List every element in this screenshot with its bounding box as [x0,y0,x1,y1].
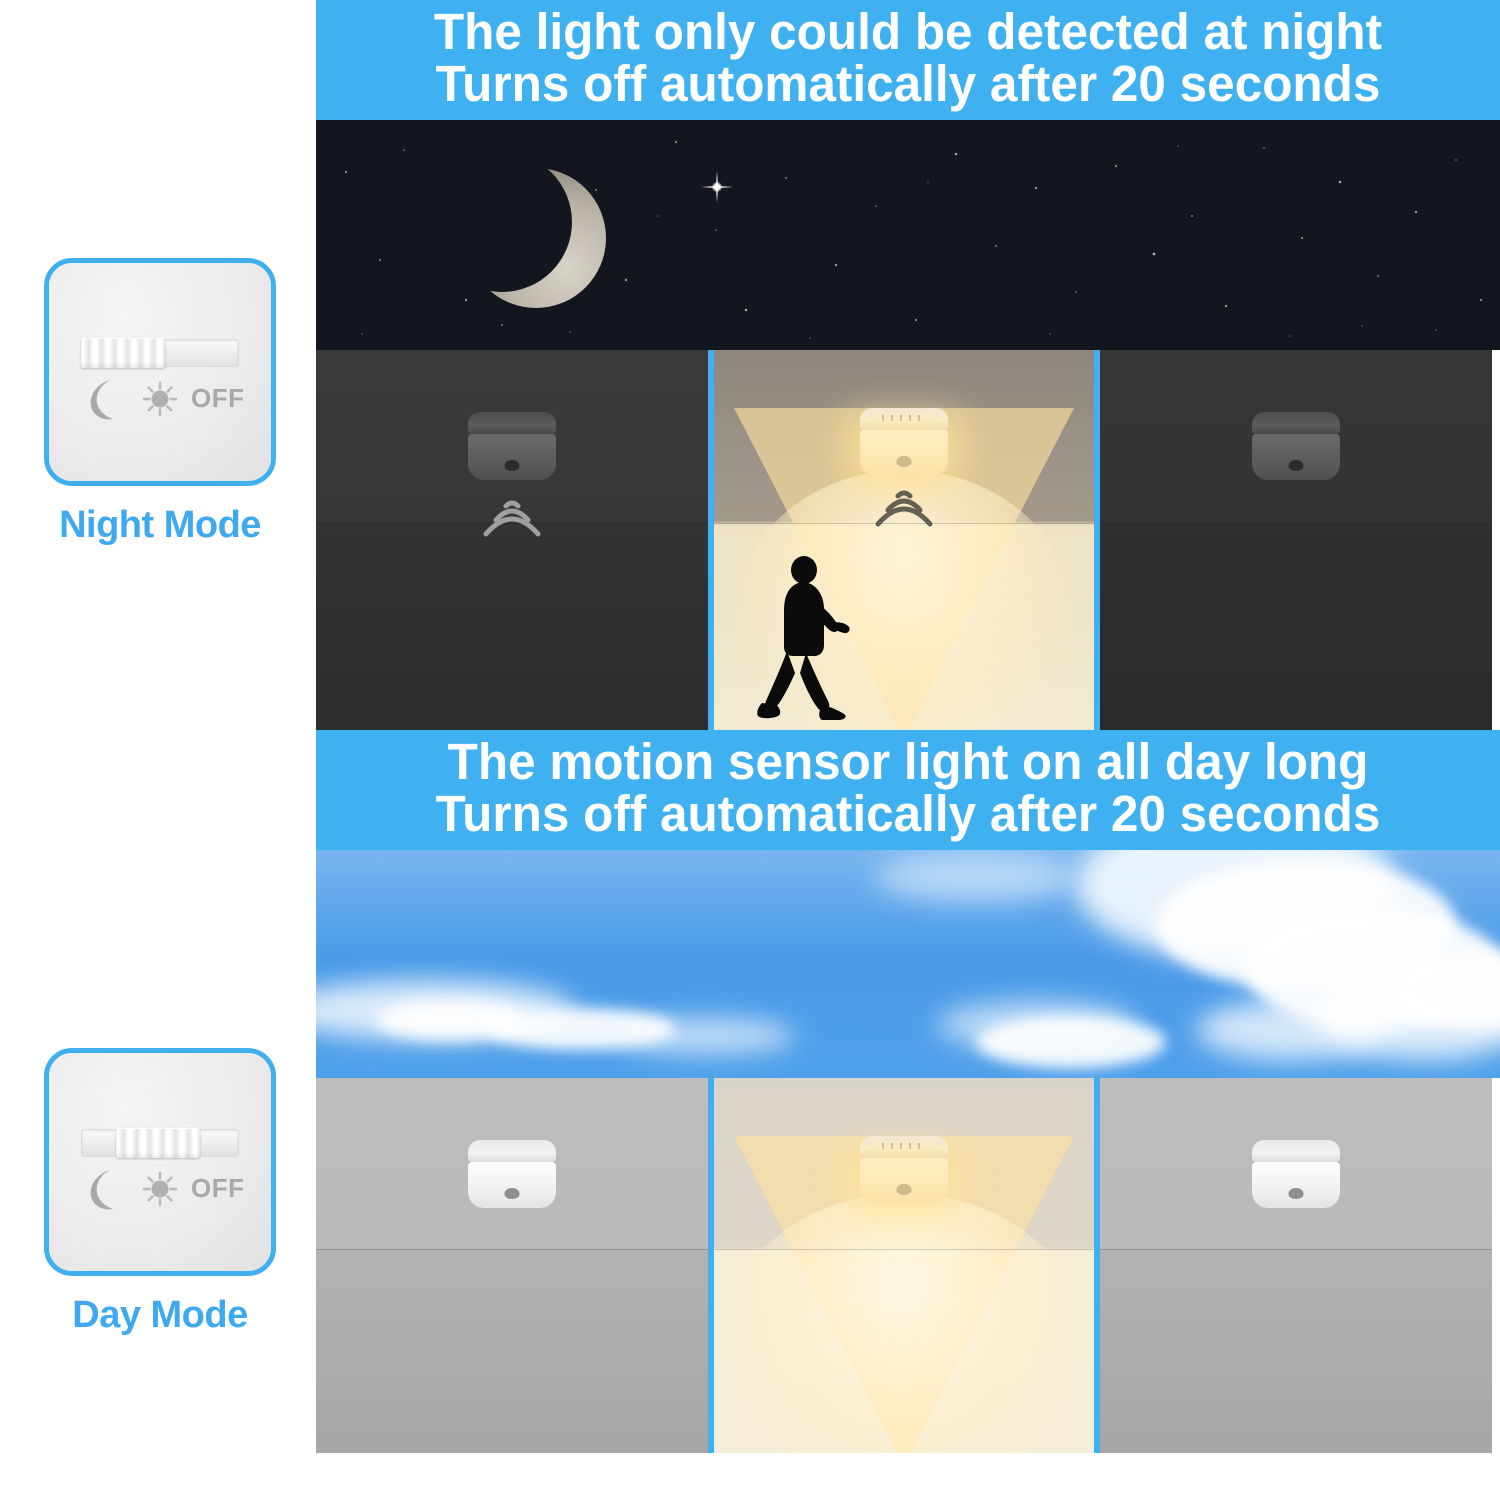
sensor-light-fixture [468,412,556,480]
day-banner-line2: Turns off automatically after 20 seconds [334,788,1482,840]
pir-sensor-icon [1289,1188,1304,1199]
day-switch-icon-row: OFF [75,1165,251,1217]
sensor-light-fixture [860,1136,948,1204]
off-label: OFF [191,1165,245,1211]
vent-slots-icon [882,415,926,421]
day-mode-switch[interactable]: OFF [44,1048,276,1276]
night-panel-left [316,350,708,730]
night-mode-label: Night Mode [44,504,276,547]
mode-cards-column: OFF Night Mode [0,0,316,1500]
pir-sensor-icon [505,460,520,471]
night-switch-icon-row: OFF [75,375,251,427]
crescent-moon-icon [466,168,606,308]
sun-icon [137,1165,183,1218]
day-banner: The motion sensor light on all day long … [316,730,1500,850]
day-banner-line1: The motion sensor light on all day long [334,736,1482,788]
night-mode-card: OFF Night Mode [44,258,276,547]
night-slider-track[interactable] [81,339,239,367]
night-sky-image [316,120,1500,350]
day-slider-knob[interactable] [116,1128,200,1158]
day-scene-row [316,1078,1500,1453]
sensor-light-fixture [468,1140,556,1208]
wall-floor-line [714,1249,1094,1250]
sensor-light-fixture [1252,1140,1340,1208]
moon-icon [79,375,125,428]
motion-wave-icon [854,480,954,538]
night-banner-line2: Turns off automatically after 20 seconds [334,58,1482,110]
scenes-column: The light only could be detected at nigh… [316,0,1500,1500]
switch-face [49,1053,271,1271]
day-panel-left [316,1078,708,1453]
night-slider-knob[interactable] [81,338,165,368]
night-scene-row [316,350,1500,730]
wall-floor-line [1100,1249,1492,1250]
sensor-light-fixture [1252,412,1340,480]
wall-floor-line [1100,523,1492,524]
day-slider-track[interactable] [81,1129,239,1157]
day-mode-label: Day Mode [44,1294,276,1337]
night-panel-right [1100,350,1492,730]
walking-person-silhouette [754,555,874,725]
day-panel-right [1100,1078,1492,1453]
pir-sensor-icon [1289,460,1304,471]
motion-wave-icon [462,490,562,548]
night-banner: The light only could be detected at nigh… [316,0,1500,120]
moon-icon [79,1165,125,1218]
night-banner-line1: The light only could be detected at nigh… [334,6,1482,58]
night-mode-switch[interactable]: OFF [44,258,276,486]
switch-face [49,263,271,481]
pir-sensor-icon [897,456,912,467]
vent-slots-icon [882,1143,926,1149]
day-mode-card: OFF Day Mode [44,1048,276,1337]
product-infographic: OFF Night Mode [0,0,1500,1500]
bright-star-core [712,182,722,192]
day-panel-mid [708,1078,1100,1453]
wall-floor-line [316,1249,708,1250]
day-sky-image [316,850,1500,1078]
pir-sensor-icon [505,1188,520,1199]
off-label: OFF [191,375,245,421]
sun-icon [137,375,183,428]
night-panel-mid [708,350,1100,730]
pir-sensor-icon [897,1184,912,1195]
sensor-light-fixture [860,408,948,476]
